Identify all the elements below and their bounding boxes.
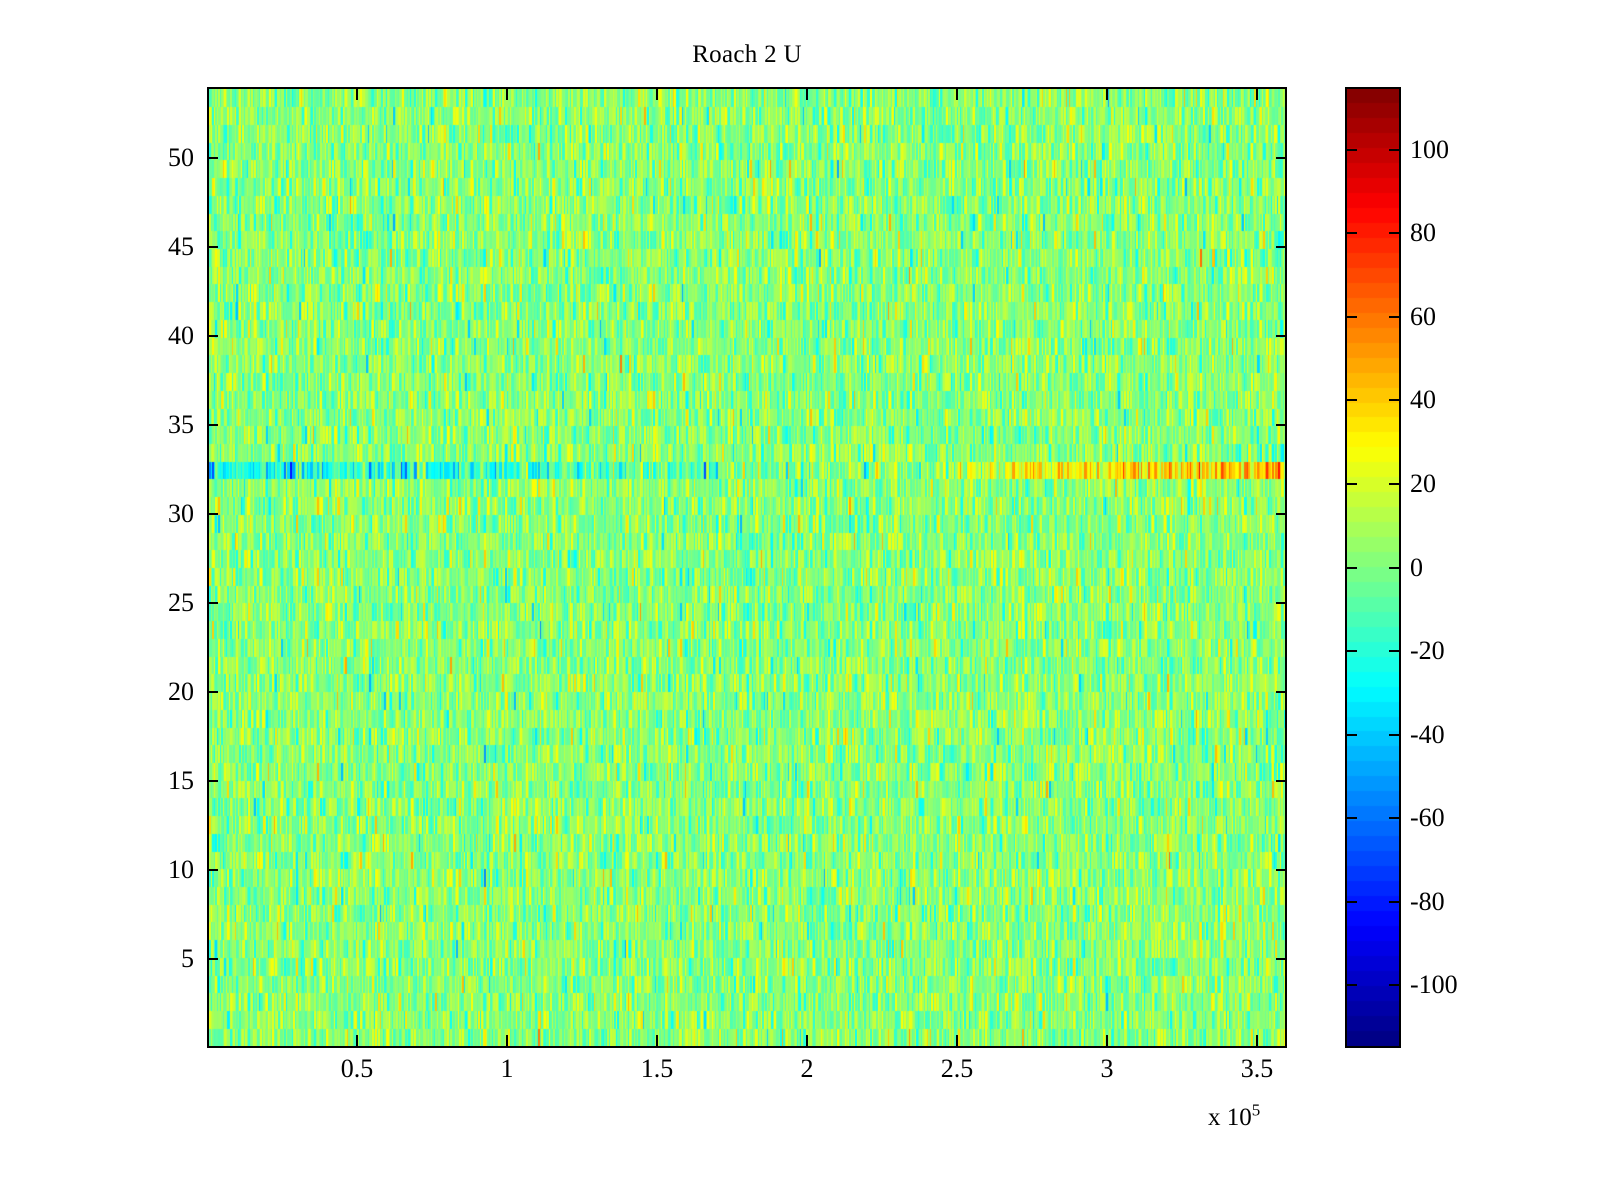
- colorbar-tick-mark-20: [1347, 483, 1357, 485]
- x-tick-label-2.5: 2.5: [941, 1054, 974, 1084]
- colorbar-tick-label--80: -80: [1410, 889, 1445, 915]
- y-tick-mark-right-20: [1276, 691, 1287, 693]
- colorbar-tick-label--20: -20: [1410, 638, 1445, 664]
- colorbar-tick-mark-right-0: [1389, 567, 1399, 569]
- x-tick-mark-top-0.5: [356, 87, 358, 100]
- x-exponent-base: x 10: [1208, 1104, 1252, 1131]
- colorbar-tick-mark-40: [1347, 399, 1357, 401]
- y-tick-label-10: 10: [168, 857, 194, 883]
- colorbar-tick-mark-right--20: [1389, 650, 1399, 652]
- heatmap-axes[interactable]: [207, 87, 1287, 1048]
- y-tick-mark-10: [207, 869, 218, 871]
- y-tick-mark-right-40: [1276, 335, 1287, 337]
- x-tick-mark-top-2: [806, 87, 808, 100]
- colorbar-tick-mark-right--60: [1389, 817, 1399, 819]
- y-tick-mark-right-45: [1276, 246, 1287, 248]
- x-tick-mark-top-1.5: [656, 87, 658, 100]
- x-tick-mark-1: [506, 1035, 508, 1048]
- colorbar-tick-mark-0: [1347, 567, 1357, 569]
- x-axis-exponent-label: x 105: [1208, 1104, 1260, 1132]
- y-tick-label-20: 20: [168, 679, 194, 705]
- y-tick-mark-right-10: [1276, 869, 1287, 871]
- colorbar-tick-mark-right-80: [1389, 232, 1399, 234]
- y-tick-mark-25: [207, 602, 218, 604]
- figure-canvas: Roach 2 U 51015202530354045500.511.522.5…: [0, 0, 1600, 1200]
- colorbar-tick-label-40: 40: [1410, 387, 1436, 413]
- colorbar-tick-mark-right-100: [1389, 149, 1399, 151]
- y-tick-label-5: 5: [181, 946, 194, 972]
- y-tick-mark-right-30: [1276, 513, 1287, 515]
- colorbar-tick-label--60: -60: [1410, 805, 1445, 831]
- x-tick-mark-0.5: [356, 1035, 358, 1048]
- colorbar-tick-mark--80: [1347, 901, 1357, 903]
- colorbar-tick-mark-100: [1347, 149, 1357, 151]
- x-tick-label-1: 1: [501, 1054, 514, 1084]
- y-tick-mark-30: [207, 513, 218, 515]
- y-tick-mark-40: [207, 335, 218, 337]
- y-tick-mark-right-25: [1276, 602, 1287, 604]
- y-tick-label-50: 50: [168, 145, 194, 171]
- y-tick-mark-right-15: [1276, 780, 1287, 782]
- y-tick-mark-35: [207, 424, 218, 426]
- colorbar-tick-label-60: 60: [1410, 304, 1436, 330]
- y-tick-label-30: 30: [168, 501, 194, 527]
- colorbar-tick-mark-60: [1347, 316, 1357, 318]
- colorbar-tick-mark--60: [1347, 817, 1357, 819]
- colorbar-tick-label-20: 20: [1410, 471, 1436, 497]
- y-tick-label-25: 25: [168, 590, 194, 616]
- heatmap-image: [209, 89, 1285, 1046]
- x-tick-mark-3: [1106, 1035, 1108, 1048]
- y-tick-mark-45: [207, 246, 218, 248]
- y-tick-label-40: 40: [168, 323, 194, 349]
- y-tick-mark-right-35: [1276, 424, 1287, 426]
- x-exponent-power: 5: [1252, 1101, 1261, 1120]
- colorbar-tick-mark--40: [1347, 734, 1357, 736]
- colorbar-tick-mark-right-60: [1389, 316, 1399, 318]
- x-tick-mark-top-1: [506, 87, 508, 100]
- y-tick-mark-5: [207, 958, 218, 960]
- colorbar-tick-mark-right--40: [1389, 734, 1399, 736]
- page-title: Roach 2 U: [0, 40, 1494, 70]
- x-tick-mark-2.5: [956, 1035, 958, 1048]
- x-tick-mark-top-3.5: [1256, 87, 1258, 100]
- y-tick-mark-50: [207, 157, 218, 159]
- x-tick-mark-2: [806, 1035, 808, 1048]
- colorbar-tick-mark-right--100: [1389, 984, 1399, 986]
- y-tick-label-35: 35: [168, 412, 194, 438]
- colorbar-tick-mark-80: [1347, 232, 1357, 234]
- colorbar-tick-label-100: 100: [1410, 137, 1449, 163]
- y-tick-label-45: 45: [168, 234, 194, 260]
- y-tick-mark-15: [207, 780, 218, 782]
- colorbar-tick-label-0: 0: [1410, 555, 1423, 581]
- colorbar-tick-mark-right-20: [1389, 483, 1399, 485]
- x-tick-mark-1.5: [656, 1035, 658, 1048]
- colorbar-tick-mark--100: [1347, 984, 1357, 986]
- x-tick-label-1.5: 1.5: [641, 1054, 674, 1084]
- colorbar-tick-label--100: -100: [1410, 972, 1458, 998]
- y-tick-mark-right-5: [1276, 958, 1287, 960]
- x-tick-label-3: 3: [1101, 1054, 1114, 1084]
- colorbar-tick-mark--20: [1347, 650, 1357, 652]
- x-tick-label-3.5: 3.5: [1241, 1054, 1274, 1084]
- x-tick-label-2: 2: [801, 1054, 814, 1084]
- colorbar-tick-mark-right--80: [1389, 901, 1399, 903]
- y-tick-label-15: 15: [168, 768, 194, 794]
- x-tick-label-0.5: 0.5: [341, 1054, 374, 1084]
- colorbar-tick-label--40: -40: [1410, 722, 1445, 748]
- y-tick-mark-20: [207, 691, 218, 693]
- colorbar-tick-mark-right-40: [1389, 399, 1399, 401]
- x-tick-mark-3.5: [1256, 1035, 1258, 1048]
- x-tick-mark-top-3: [1106, 87, 1108, 100]
- colorbar-tick-label-80: 80: [1410, 220, 1436, 246]
- x-tick-mark-top-2.5: [956, 87, 958, 100]
- y-tick-mark-right-50: [1276, 157, 1287, 159]
